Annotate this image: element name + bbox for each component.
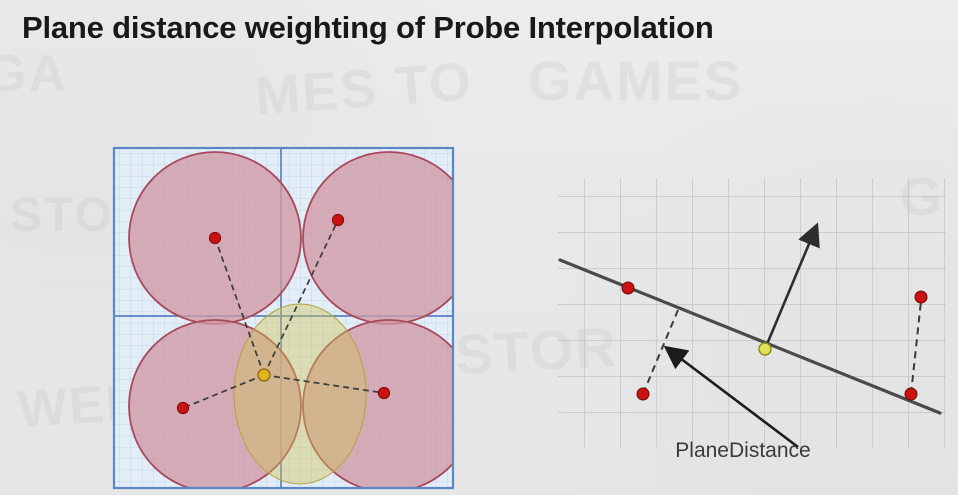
probe-grid-diagram: [108, 142, 456, 495]
probe-point-top-right[interactable]: [332, 214, 343, 225]
probe-above-plane-right[interactable]: [915, 291, 927, 303]
interpolation-sample-point[interactable]: [759, 343, 771, 355]
plane-distance-label: PlaneDistance: [675, 439, 810, 462]
probe-below-plane-left[interactable]: [637, 388, 649, 400]
probe-on-plane-left[interactable]: [622, 282, 634, 294]
watermark-mes-to: MES TO: [253, 50, 475, 127]
watermark-ga-left: GA: [0, 44, 68, 104]
plane-grid: [558, 178, 946, 448]
probe-below-plane-right[interactable]: [905, 388, 917, 400]
page-title: Plane distance weighting of Probe Interp…: [22, 10, 714, 46]
probe-point-bottom-right[interactable]: [378, 387, 389, 398]
probe-point-bottom-left[interactable]: [177, 402, 188, 413]
plane-distance-diagram: PlaneDistance: [548, 160, 958, 495]
sample-influence-region: [234, 304, 366, 484]
watermark-sto: STO: [10, 188, 114, 243]
watermark-games-top: GAMES: [528, 48, 743, 113]
interpolation-sample-point[interactable]: [258, 369, 270, 381]
probe-point-top-left[interactable]: [209, 232, 220, 243]
slide-canvas: GA MES TO GAMES STOR WEB STO G Plane dis…: [0, 0, 958, 495]
